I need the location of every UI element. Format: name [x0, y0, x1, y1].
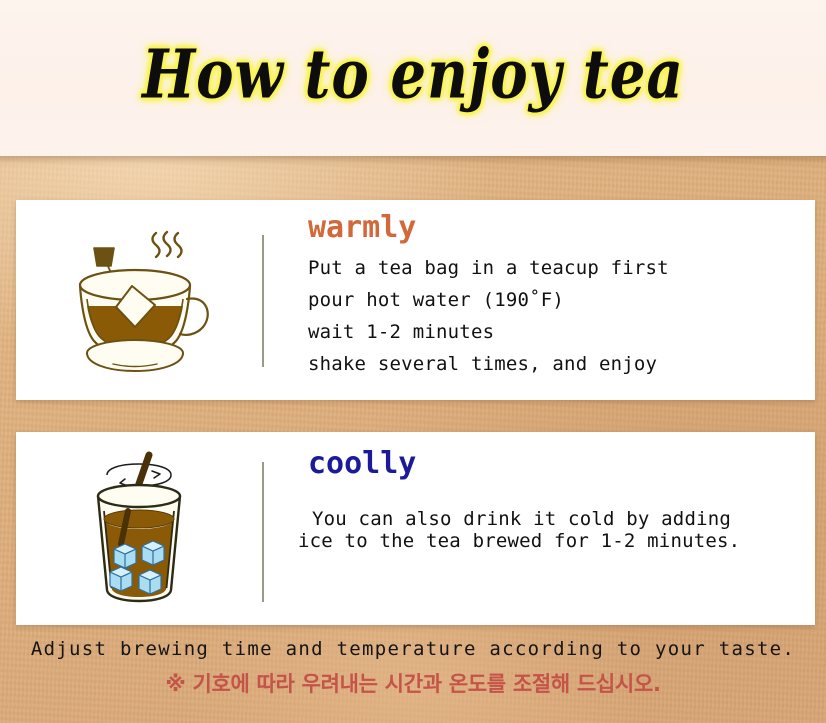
warmly-body: warmly Put a tea bag in a teacup first p…: [292, 200, 809, 400]
header-band: How to enjoy tea: [0, 0, 826, 156]
warmly-heading: warmly: [308, 210, 416, 245]
card-coolly: coolly You can also drink it cold by add…: [16, 432, 815, 625]
card-warmly: warmly Put a tea bag in a teacup first p…: [16, 200, 815, 400]
coolly-heading: coolly: [308, 446, 416, 481]
page-title: How to enjoy tea: [0, 34, 826, 113]
coolly-illustration: [16, 432, 266, 625]
list-item: shake several times, and enjoy: [308, 348, 669, 380]
coolly-description-line-2: ice to the tea brewed for 1-2 minutes.: [296, 530, 740, 552]
coolly-divider: [262, 462, 264, 602]
list-item: Put a tea bag in a teacup first: [308, 252, 669, 284]
footer: Adjust brewing time and temperature acco…: [0, 638, 826, 698]
coolly-description: You can also drink it cold by adding ice…: [296, 508, 740, 552]
warmly-divider: [262, 235, 264, 367]
footer-note-english: Adjust brewing time and temperature acco…: [0, 638, 826, 660]
tea-instruction-poster: How to enjoy tea: [0, 0, 826, 723]
warmly-step-list: Put a tea bag in a teacup first pour hot…: [308, 252, 669, 380]
coolly-description-line-1: You can also drink it cold by adding: [296, 508, 740, 530]
warmly-illustration: [16, 200, 266, 400]
coolly-body: coolly You can also drink it cold by add…: [292, 432, 809, 625]
iced-tea-glass-icon: [66, 449, 216, 609]
hot-teacup-with-teabag-icon: [56, 223, 226, 378]
list-item: pour hot water (190˚F): [308, 284, 669, 316]
footer-note-korean: ※ 기호에 따라 우려내는 시간과 온도를 조절해 드십시오.: [0, 668, 826, 698]
list-item: wait 1-2 minutes: [308, 316, 669, 348]
